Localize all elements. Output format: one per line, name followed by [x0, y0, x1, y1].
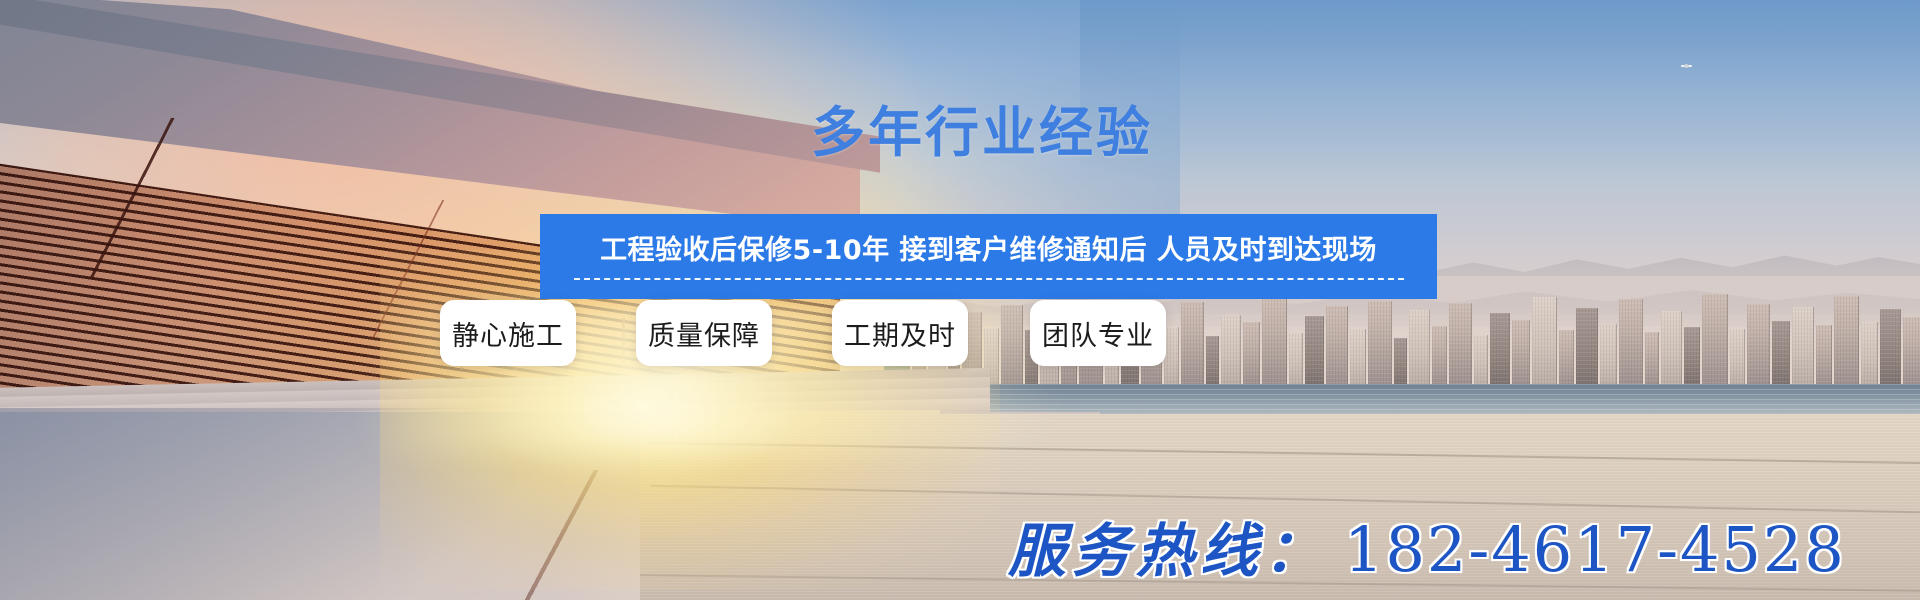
feature-tag-label: 工期及时 [844, 314, 956, 353]
feature-tag[interactable]: 静心施工 [440, 300, 576, 366]
hotline-number[interactable]: 182-4617-4528 [1344, 513, 1846, 586]
feature-tag[interactable]: 团队专业 [1030, 300, 1166, 366]
promise-bar: 工程验收后保修5-10年 接到客户维修通知后 人员及时到达现场 [540, 214, 1437, 299]
promise-bar-text: 工程验收后保修5-10年 接到客户维修通知后 人员及时到达现场 [600, 237, 1377, 264]
feature-tag-label: 质量保障 [648, 314, 760, 353]
canopy-diagonal-brace-1 [10, 118, 260, 278]
feature-tag-label: 静心施工 [452, 314, 564, 353]
hotline[interactable]: 服务热线： 182-4617-4528 [1008, 504, 1846, 588]
page-title: 多年行业经验 [672, 88, 1292, 167]
feature-tag-list: 静心施工 质量保障 工期及时 团队专业 [440, 300, 1180, 366]
hero-banner: 多年行业经验 工程验收后保修5-10年 接到客户维修通知后 人员及时到达现场 静… [0, 0, 1920, 600]
feature-tag-label: 团队专业 [1042, 314, 1154, 353]
hotline-label: 服务热线： [1008, 504, 1328, 588]
promise-bar-divider [574, 278, 1404, 280]
airplane-icon [1679, 64, 1693, 69]
feature-tag[interactable]: 工期及时 [832, 300, 968, 366]
feature-tag[interactable]: 质量保障 [636, 300, 772, 366]
